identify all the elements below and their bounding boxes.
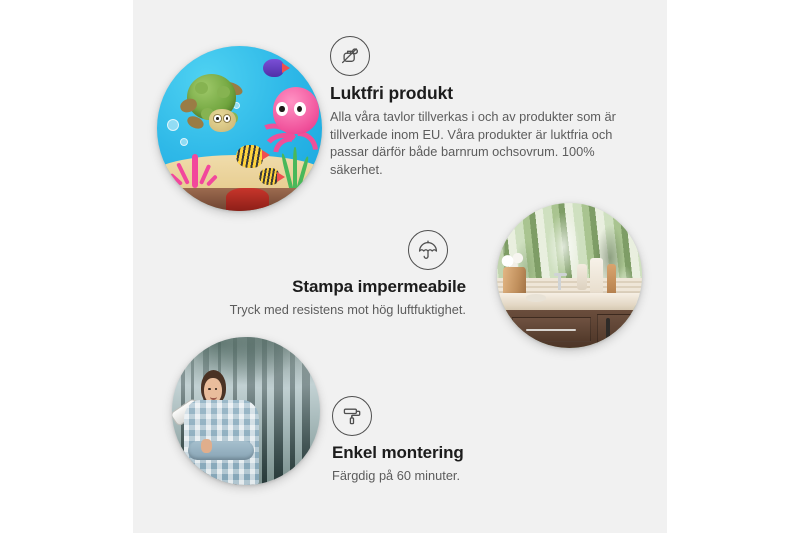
bathroom-scene	[497, 203, 642, 348]
feature-title: Luktfri produkt	[330, 83, 622, 104]
fish-icon	[263, 59, 284, 77]
bottle-icon	[607, 264, 616, 296]
bottle-icon	[590, 258, 603, 296]
bottle-icon	[577, 264, 587, 290]
fish-icon	[236, 145, 262, 168]
feature-image-easy-mounting	[172, 337, 320, 485]
content-panel: Luktfri produkt Alla våra tavlor tillver…	[133, 0, 667, 533]
no-perfume-icon	[330, 36, 370, 76]
coral-icon	[174, 145, 217, 188]
umbrella-icon	[408, 230, 448, 270]
sea-floor-strip	[157, 188, 322, 211]
soap-dish-icon	[526, 294, 546, 301]
paint-roller-icon	[332, 396, 372, 436]
forest-mural-scene	[172, 337, 320, 485]
feature-image-odourless	[157, 46, 322, 211]
feature-description: Alla våra tavlor tillverkas i och av pro…	[330, 108, 622, 178]
turtle-icon	[180, 74, 246, 137]
faucet-icon	[549, 273, 572, 290]
vanity-cabinet	[506, 310, 642, 348]
seagrass-icon	[282, 147, 308, 190]
feature-block-waterproof: Stampa impermeabile Tryck med resistens …	[206, 230, 466, 319]
feature-description: Färgdig på 60 minuter.	[332, 467, 592, 485]
feature-image-waterproof	[497, 203, 642, 348]
infographic-canvas: Luktfri produkt Alla våra tavlor tillver…	[0, 0, 800, 533]
underwater-scene	[157, 46, 322, 211]
feature-description: Tryck med resistens mot hög luftfuktighe…	[206, 301, 466, 319]
woman-figure	[181, 370, 264, 485]
bubble-icon	[167, 119, 179, 131]
feature-block-easy-mounting: Enkel montering Färgdig på 60 minuter.	[332, 396, 592, 485]
feature-title: Enkel montering	[332, 443, 592, 463]
feature-title: Stampa impermeabile	[206, 277, 466, 297]
feature-block-odourless: Luktfri produkt Alla våra tavlor tillver…	[330, 36, 622, 178]
fish-icon	[259, 168, 279, 185]
